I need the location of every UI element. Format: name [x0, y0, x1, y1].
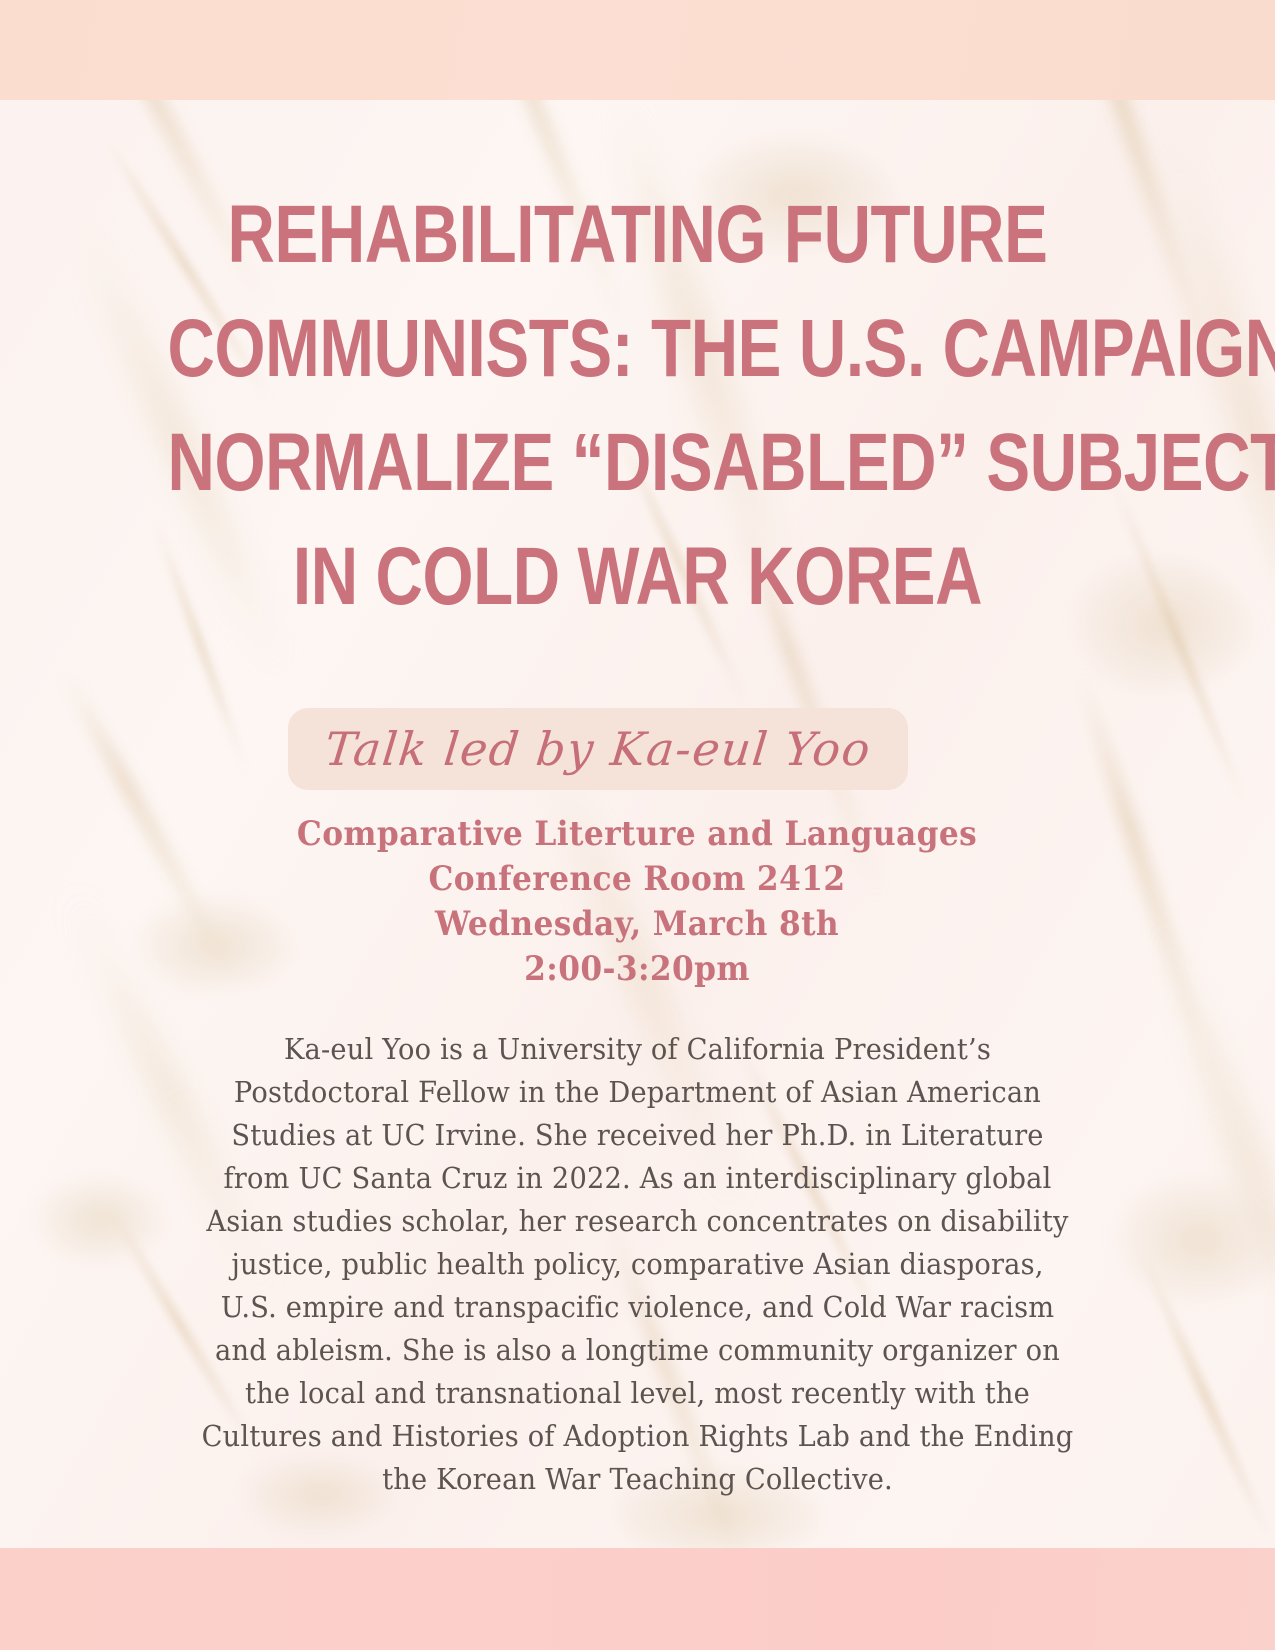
bio-line: Ka-eul Yoo is a University of California… — [151, 1028, 1124, 1071]
detail-department: Comparative Literture and Languages — [177, 812, 1097, 857]
bio-line: Postdoctoral Fellow in the Department of… — [151, 1071, 1124, 1114]
title-line-3: NORMALIZE “DISABLED” SUBJECTS — [168, 406, 1108, 520]
speaker-banner-label: Talk led by Ka-eul Yoo — [322, 723, 874, 775]
bio-line: and ableism. She is also a longtime comm… — [151, 1329, 1124, 1372]
bio-line: from UC Santa Cruz in 2022. As an interd… — [151, 1157, 1124, 1200]
detail-date: Wednesday, March 8th — [177, 902, 1097, 947]
bio-line: Studies at UC Irvine. She received her P… — [151, 1114, 1124, 1157]
speaker-banner: Talk led by Ka-eul Yoo — [288, 708, 908, 790]
bio-line: U.S. empire and transpacific violence, a… — [151, 1286, 1124, 1329]
bio-line: Cultures and Histories of Adoption Right… — [151, 1415, 1124, 1458]
bio-line: the Korean War Teaching Collective. — [151, 1458, 1124, 1501]
event-poster: REHABILITATING FUTURE COMMUNISTS: THE U.… — [0, 0, 1275, 1650]
detail-time: 2:00-3:20pm — [177, 947, 1097, 992]
bio-line: the local and transnational level, most … — [151, 1372, 1124, 1415]
event-details: Comparative Literture and Languages Conf… — [137, 812, 1137, 992]
poster-content: REHABILITATING FUTURE COMMUNISTS: THE U.… — [0, 0, 1275, 1650]
bio-line: Asian studies scholar, her research conc… — [151, 1200, 1124, 1243]
title-line-2: COMMUNISTS: THE U.S. CAMPAIGN TO — [168, 292, 1108, 406]
title-line-4: IN COLD WAR KOREA — [168, 520, 1108, 634]
speaker-bio: Ka-eul Yoo is a University of California… — [120, 1028, 1155, 1501]
detail-location: Conference Room 2412 — [177, 857, 1097, 902]
poster-title: REHABILITATING FUTURE COMMUNISTS: THE U.… — [50, 178, 1225, 634]
bio-line: justice, public health policy, comparati… — [151, 1243, 1124, 1286]
title-line-1: REHABILITATING FUTURE — [168, 178, 1108, 292]
